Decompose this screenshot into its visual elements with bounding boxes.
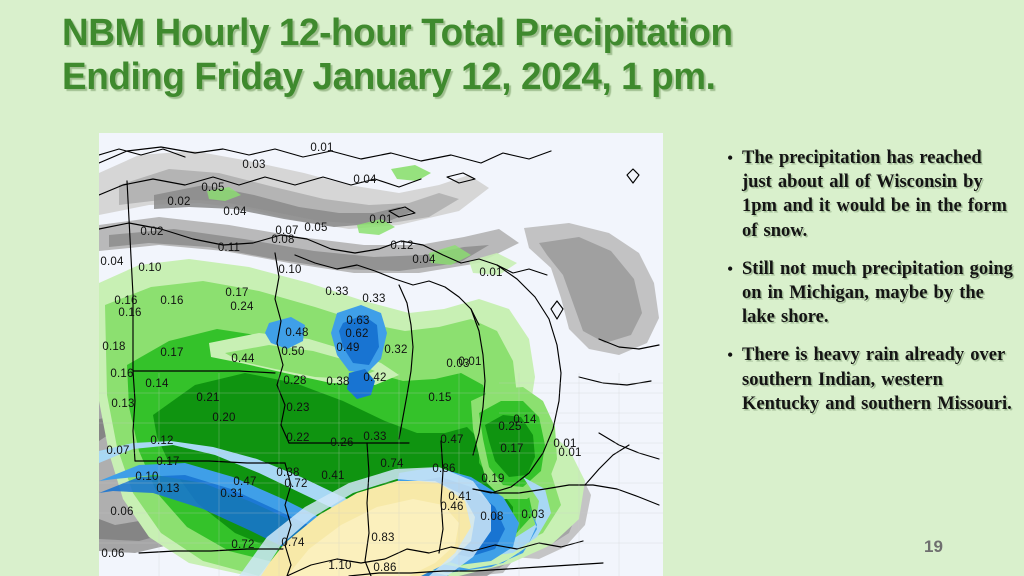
bullet-list: • The precipitation has reached just abo… <box>727 146 1015 430</box>
list-item: • The precipitation has reached just abo… <box>727 146 1015 243</box>
page-title: NBM Hourly 12-hour Total Precipitation E… <box>62 11 892 99</box>
list-item: • Still not much precipitation going on … <box>727 257 1015 330</box>
slide-canvas: NBM Hourly 12-hour Total Precipitation E… <box>0 0 1024 576</box>
page-title-line-1: NBM Hourly 12-hour Total Precipitation <box>62 11 867 55</box>
precipitation-map-graphic <box>99 133 663 576</box>
bullet-marker-icon: • <box>727 343 742 367</box>
bullet-text: Still not much precipitation going on in… <box>742 257 1015 330</box>
bullet-marker-icon: • <box>727 257 742 281</box>
bullet-text: There is heavy rain already over souther… <box>742 343 1015 416</box>
bullet-text: The precipitation has reached just about… <box>742 146 1015 243</box>
precipitation-map: 0.030.010.040.050.020.040.070.050.080.01… <box>99 133 663 576</box>
page-number: 19 <box>924 537 943 557</box>
bullet-marker-icon: • <box>727 146 742 170</box>
list-item: • There is heavy rain already over south… <box>727 343 1015 416</box>
page-title-line-2: Ending Friday January 12, 2024, 1 pm. <box>62 55 867 99</box>
